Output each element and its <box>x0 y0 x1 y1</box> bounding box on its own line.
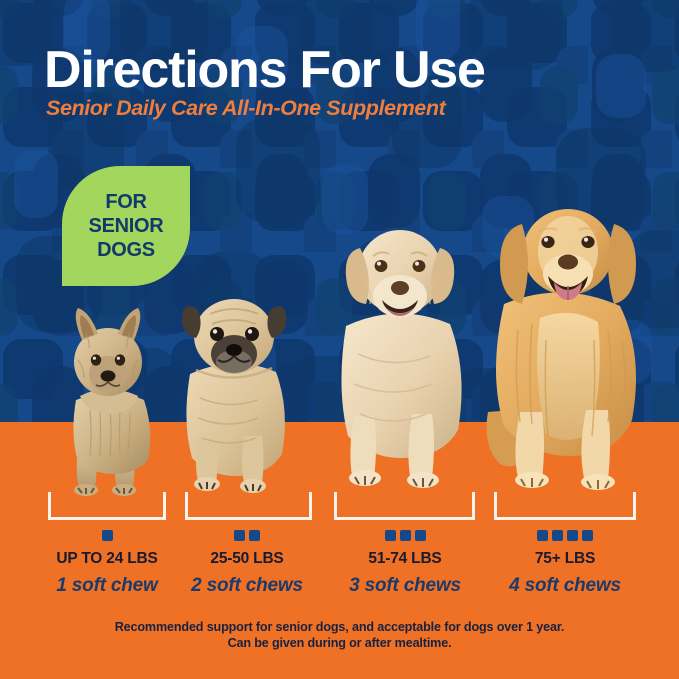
chew-chip <box>552 530 563 541</box>
dosage-column-4: 75+ LBS4 soft chews <box>485 528 645 597</box>
chew-chip <box>567 530 578 541</box>
dog-photo-yorkshire-terrier <box>38 300 178 500</box>
dose-label: 2 soft chews <box>167 574 327 597</box>
weight-range-label: UP TO 24 LBS <box>27 549 187 568</box>
chew-chip <box>400 530 411 541</box>
weight-range-label: 51-74 LBS <box>325 549 485 568</box>
chew-chip <box>249 530 260 541</box>
weight-range-label: 75+ LBS <box>485 549 645 568</box>
chew-chip <box>537 530 548 541</box>
page-title: Directions For Use <box>44 42 485 98</box>
chew-count-chips <box>485 528 645 542</box>
bracket-3 <box>334 492 475 520</box>
chew-chip <box>234 530 245 541</box>
page-subtitle: Senior Daily Care All-In-One Supplement <box>46 96 445 120</box>
footer-line-1: Recommended support for senior dogs, and… <box>0 620 679 636</box>
badge-text: FOR SENIOR DOGS <box>62 166 190 286</box>
directions-for-use-panel: Directions For Use Senior Daily Care All… <box>0 0 679 679</box>
dose-label: 1 soft chew <box>27 574 187 597</box>
dog-photo-pug <box>170 278 302 500</box>
dog-photo-yellow-labrador <box>324 208 480 494</box>
bracket-2 <box>185 492 312 520</box>
badge-line-3: DOGS <box>97 238 155 262</box>
weight-range-label: 25-50 LBS <box>167 549 327 568</box>
chew-count-chips <box>325 528 485 542</box>
chew-chip <box>102 530 113 541</box>
bracket-1 <box>48 492 166 520</box>
dose-label: 4 soft chews <box>485 574 645 597</box>
bracket-4 <box>494 492 636 520</box>
dog-photo-golden-retriever <box>484 190 656 490</box>
chew-count-chips <box>167 528 327 542</box>
chew-chip <box>582 530 593 541</box>
badge-line-1: FOR <box>105 190 146 214</box>
chew-chip <box>385 530 396 541</box>
header: Directions For Use Senior Daily Care All… <box>0 0 679 140</box>
dose-label: 3 soft chews <box>325 574 485 597</box>
dosage-column-1: UP TO 24 LBS1 soft chew <box>27 528 187 597</box>
footer-note: Recommended support for senior dogs, and… <box>0 620 679 651</box>
badge-line-2: SENIOR <box>89 214 164 238</box>
footer-line-2: Can be given during or after mealtime. <box>0 636 679 652</box>
dosage-column-3: 51-74 LBS3 soft chews <box>325 528 485 597</box>
chew-count-chips <box>27 528 187 542</box>
for-senior-dogs-badge: FOR SENIOR DOGS <box>62 166 190 286</box>
dosage-column-2: 25-50 LBS2 soft chews <box>167 528 327 597</box>
chew-chip <box>415 530 426 541</box>
